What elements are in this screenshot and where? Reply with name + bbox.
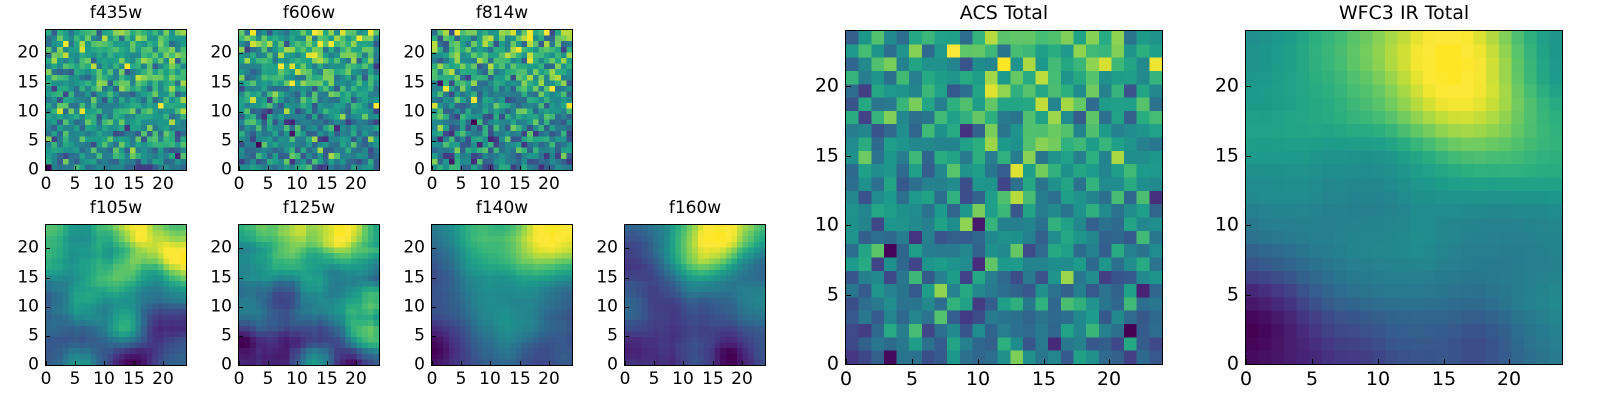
y-tick-mark — [846, 156, 851, 157]
heatmap-image — [432, 30, 572, 170]
y-tick-mark — [46, 141, 50, 142]
y-tick-mark — [846, 295, 851, 296]
x-tick-label: 20 — [1497, 370, 1521, 389]
y-tick-mark — [432, 278, 436, 279]
y-tick-label: 10 — [178, 104, 232, 121]
panel-f125w: f125w0510152005101520 — [0, 0, 1600, 400]
y-tick-label: 0 — [178, 162, 232, 179]
y-tick-label: 5 — [564, 328, 618, 345]
x-tick-mark — [1312, 359, 1313, 364]
heatmap-image — [239, 30, 379, 170]
y-tick-label: 5 — [371, 328, 425, 345]
x-tick-label: 20 — [731, 371, 753, 388]
x-tick-label: 20 — [538, 371, 560, 388]
y-tick-mark — [432, 307, 436, 308]
y-tick-mark — [625, 278, 629, 279]
y-tick-label: 20 — [371, 45, 425, 62]
x-tick-label: 20 — [345, 371, 367, 388]
y-tick-mark — [1246, 295, 1251, 296]
x-tick-mark — [268, 166, 269, 170]
panel-title: f125w — [238, 200, 380, 217]
panel-title: f814w — [431, 5, 573, 22]
x-tick-mark — [461, 166, 462, 170]
y-tick-mark — [846, 86, 851, 87]
heatmap-axes — [45, 29, 187, 171]
x-tick-label: 10 — [93, 371, 115, 388]
x-tick-label: 15 — [702, 371, 724, 388]
y-tick-label: 0 — [0, 357, 39, 374]
x-tick-mark — [432, 361, 433, 365]
x-tick-mark — [713, 361, 714, 365]
y-tick-label: 20 — [0, 240, 39, 257]
x-tick-label: 15 — [509, 176, 531, 193]
panel-title: f160w — [624, 200, 766, 217]
x-tick-label: 0 — [41, 371, 52, 388]
y-tick-label: 20 — [178, 240, 232, 257]
x-tick-label: 20 — [152, 176, 174, 193]
y-tick-label: 0 — [785, 355, 839, 374]
x-tick-label: 5 — [649, 371, 660, 388]
panel-f814w: f814w0510152005101520 — [0, 0, 1600, 400]
x-tick-mark — [163, 361, 164, 365]
heatmap-image — [1246, 31, 1562, 364]
x-tick-label: 5 — [263, 371, 274, 388]
heatmap-axes — [431, 29, 573, 171]
panel-f140w: f140w0510152005101520 — [0, 0, 1600, 400]
y-tick-mark — [432, 336, 436, 337]
x-tick-mark — [327, 361, 328, 365]
x-tick-mark — [490, 166, 491, 170]
heatmap-image — [46, 225, 186, 365]
y-tick-mark — [239, 307, 243, 308]
y-tick-label: 5 — [0, 328, 39, 345]
y-tick-label: 20 — [1185, 77, 1239, 96]
x-tick-mark — [104, 361, 105, 365]
panel-title: ACS Total — [845, 4, 1163, 23]
y-tick-label: 15 — [178, 270, 232, 287]
x-tick-mark — [46, 166, 47, 170]
y-tick-label: 20 — [178, 45, 232, 62]
heatmap-axes — [431, 224, 573, 366]
x-tick-label: 10 — [286, 371, 308, 388]
y-tick-label: 5 — [178, 328, 232, 345]
x-tick-mark — [239, 361, 240, 365]
y-tick-mark — [432, 53, 436, 54]
panel-f105w: f105w0510152005101520 — [0, 0, 1600, 400]
x-tick-label: 0 — [427, 371, 438, 388]
y-tick-label: 0 — [371, 357, 425, 374]
heatmap-image — [432, 225, 572, 365]
y-tick-label: 15 — [178, 75, 232, 92]
y-tick-mark — [239, 336, 243, 337]
x-tick-label: 5 — [456, 176, 467, 193]
panel-title: f105w — [45, 200, 187, 217]
x-tick-mark — [356, 361, 357, 365]
y-tick-mark — [239, 278, 243, 279]
x-tick-mark — [742, 361, 743, 365]
y-tick-mark — [432, 83, 436, 84]
y-tick-label: 5 — [1185, 286, 1239, 305]
y-tick-mark — [239, 112, 243, 113]
y-tick-mark — [46, 307, 50, 308]
y-tick-label: 10 — [178, 299, 232, 316]
x-tick-mark — [978, 359, 979, 364]
x-tick-mark — [356, 166, 357, 170]
y-tick-mark — [432, 141, 436, 142]
y-tick-mark — [46, 248, 50, 249]
x-tick-mark — [46, 361, 47, 365]
x-tick-label: 20 — [1097, 370, 1121, 389]
y-tick-mark — [432, 248, 436, 249]
x-tick-mark — [1246, 359, 1247, 364]
y-tick-label: 15 — [564, 270, 618, 287]
y-tick-label: 20 — [564, 240, 618, 257]
y-tick-mark — [239, 365, 243, 366]
x-tick-label: 10 — [93, 176, 115, 193]
y-tick-label: 15 — [371, 270, 425, 287]
y-tick-label: 15 — [785, 147, 839, 166]
x-tick-label: 15 — [1432, 370, 1456, 389]
panel-f606w: f606w0510152005101520 — [0, 0, 1600, 400]
x-tick-mark — [1044, 359, 1045, 364]
y-tick-mark — [625, 365, 629, 366]
y-tick-mark — [625, 336, 629, 337]
heatmap-axes — [45, 224, 187, 366]
y-tick-label: 0 — [1185, 355, 1239, 374]
panel-wfc3-ir-total: WFC3 IR Total0510152005101520 — [0, 0, 1600, 400]
y-tick-label: 0 — [371, 162, 425, 179]
y-tick-label: 10 — [0, 104, 39, 121]
x-tick-mark — [1509, 359, 1510, 364]
x-tick-mark — [520, 361, 521, 365]
x-tick-mark — [268, 361, 269, 365]
y-tick-mark — [46, 336, 50, 337]
y-tick-mark — [1246, 86, 1251, 87]
x-tick-mark — [327, 166, 328, 170]
y-tick-mark — [625, 307, 629, 308]
y-tick-mark — [46, 278, 50, 279]
x-tick-mark — [432, 166, 433, 170]
x-tick-mark — [134, 361, 135, 365]
y-tick-label: 20 — [0, 45, 39, 62]
x-tick-label: 20 — [345, 176, 367, 193]
heatmap-image — [625, 225, 765, 365]
x-tick-label: 10 — [479, 371, 501, 388]
x-tick-label: 5 — [70, 371, 81, 388]
y-tick-label: 5 — [785, 286, 839, 305]
y-tick-label: 0 — [564, 357, 618, 374]
x-tick-label: 0 — [620, 371, 631, 388]
y-tick-label: 10 — [371, 299, 425, 316]
y-tick-label: 0 — [0, 162, 39, 179]
x-tick-mark — [163, 166, 164, 170]
x-tick-mark — [1444, 359, 1445, 364]
panel-f160w: f160w0510152005101520 — [0, 0, 1600, 400]
y-tick-mark — [46, 53, 50, 54]
y-tick-label: 15 — [371, 75, 425, 92]
heatmap-axes — [238, 224, 380, 366]
x-tick-mark — [683, 361, 684, 365]
x-tick-label: 5 — [1306, 370, 1318, 389]
y-tick-mark — [625, 248, 629, 249]
x-tick-mark — [1109, 359, 1110, 364]
y-tick-mark — [239, 141, 243, 142]
y-tick-mark — [432, 112, 436, 113]
x-tick-label: 10 — [966, 370, 990, 389]
x-tick-label: 20 — [152, 371, 174, 388]
x-tick-label: 10 — [672, 371, 694, 388]
heatmap-axes — [845, 30, 1163, 365]
y-tick-mark — [846, 225, 851, 226]
x-tick-mark — [549, 361, 550, 365]
y-tick-label: 10 — [785, 216, 839, 235]
heatmap-axes — [624, 224, 766, 366]
x-tick-label: 15 — [509, 371, 531, 388]
panel-title: f140w — [431, 200, 573, 217]
y-tick-mark — [1246, 225, 1251, 226]
x-tick-mark — [461, 361, 462, 365]
x-tick-label: 5 — [456, 371, 467, 388]
y-tick-mark — [239, 53, 243, 54]
x-tick-mark — [1378, 359, 1379, 364]
panel-acs-total: ACS Total0510152005101520 — [0, 0, 1600, 400]
x-tick-mark — [297, 166, 298, 170]
y-tick-mark — [46, 365, 50, 366]
y-tick-mark — [239, 248, 243, 249]
x-tick-label: 0 — [234, 176, 245, 193]
x-tick-label: 0 — [234, 371, 245, 388]
x-tick-mark — [912, 359, 913, 364]
heatmap-axes — [1245, 30, 1563, 365]
y-tick-label: 10 — [371, 104, 425, 121]
x-tick-label: 15 — [1032, 370, 1056, 389]
x-tick-label: 15 — [123, 176, 145, 193]
y-tick-label: 15 — [1185, 147, 1239, 166]
panel-title: WFC3 IR Total — [1245, 4, 1563, 23]
panel-f435w: f435w0510152005101520 — [0, 0, 1600, 400]
x-tick-mark — [549, 166, 550, 170]
x-tick-label: 0 — [1240, 370, 1252, 389]
x-tick-mark — [297, 361, 298, 365]
y-tick-label: 20 — [371, 240, 425, 257]
panel-title: f606w — [238, 5, 380, 22]
y-tick-label: 5 — [371, 133, 425, 150]
x-tick-mark — [75, 166, 76, 170]
x-tick-mark — [104, 166, 105, 170]
y-tick-label: 15 — [0, 75, 39, 92]
y-tick-label: 15 — [0, 270, 39, 287]
x-tick-label: 20 — [538, 176, 560, 193]
x-tick-label: 10 — [1366, 370, 1390, 389]
heatmap-image — [239, 225, 379, 365]
x-tick-mark — [490, 361, 491, 365]
y-tick-mark — [1246, 156, 1251, 157]
y-tick-label: 0 — [178, 357, 232, 374]
y-tick-label: 10 — [0, 299, 39, 316]
x-tick-label: 10 — [479, 176, 501, 193]
x-tick-mark — [625, 361, 626, 365]
y-tick-label: 5 — [0, 133, 39, 150]
x-tick-mark — [520, 166, 521, 170]
x-tick-label: 15 — [316, 371, 338, 388]
x-tick-label: 10 — [286, 176, 308, 193]
x-tick-label: 0 — [427, 176, 438, 193]
x-tick-mark — [654, 361, 655, 365]
heatmap-image — [46, 30, 186, 170]
x-tick-label: 0 — [41, 176, 52, 193]
y-tick-label: 20 — [785, 77, 839, 96]
x-tick-label: 15 — [316, 176, 338, 193]
y-tick-mark — [46, 112, 50, 113]
x-tick-label: 0 — [840, 370, 852, 389]
x-tick-mark — [134, 166, 135, 170]
y-tick-mark — [1246, 364, 1251, 365]
x-tick-label: 5 — [263, 176, 274, 193]
x-tick-label: 15 — [123, 371, 145, 388]
x-tick-mark — [846, 359, 847, 364]
y-tick-label: 10 — [564, 299, 618, 316]
y-tick-mark — [239, 83, 243, 84]
panel-title: f435w — [45, 5, 187, 22]
y-tick-mark — [432, 170, 436, 171]
x-tick-mark — [239, 166, 240, 170]
y-tick-mark — [432, 365, 436, 366]
x-tick-label: 5 — [70, 176, 81, 193]
y-tick-mark — [46, 170, 50, 171]
x-tick-label: 5 — [906, 370, 918, 389]
x-tick-mark — [75, 361, 76, 365]
y-tick-mark — [239, 170, 243, 171]
y-tick-mark — [46, 83, 50, 84]
heatmap-image — [846, 31, 1162, 364]
y-tick-mark — [846, 364, 851, 365]
heatmap-axes — [238, 29, 380, 171]
y-tick-label: 10 — [1185, 216, 1239, 235]
y-tick-label: 5 — [178, 133, 232, 150]
